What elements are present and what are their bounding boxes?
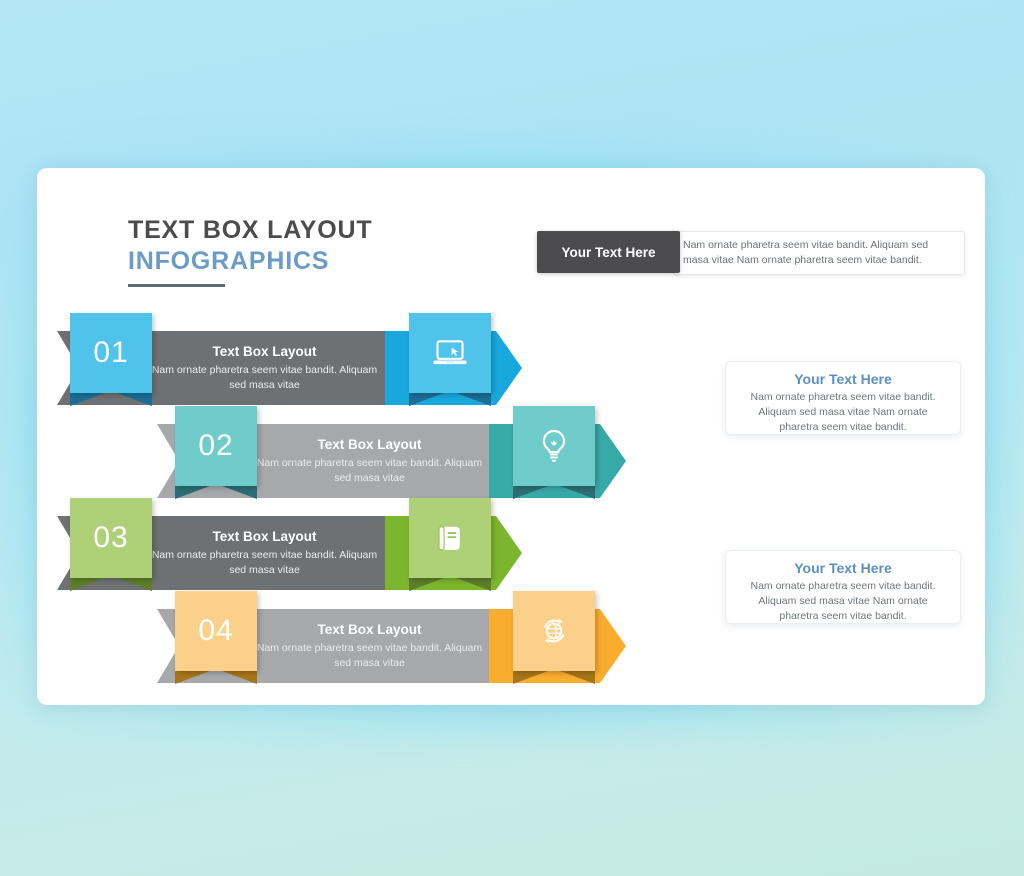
ribbon-heading: Text Box Layout	[212, 529, 316, 544]
ribbon-text: Text Box LayoutNam ornate pharetra seem …	[142, 516, 387, 590]
ribbon-tab-tails	[70, 578, 152, 591]
side-card[interactable]: Your Text Here Nam ornate pharetra seem …	[725, 361, 961, 435]
ribbon-body: Nam ornate pharetra seem vitae bandit. A…	[247, 456, 492, 485]
side-card[interactable]: Your Text Here Nam ornate pharetra seem …	[725, 550, 961, 624]
ribbon-row[interactable]: Text Box LayoutNam ornate pharetra seem …	[37, 313, 657, 405]
ribbon-icon-tails	[409, 578, 491, 591]
side-card-heading: Your Text Here	[740, 560, 946, 576]
side-card-body: Nam ornate pharetra seem vitae bandit. A…	[740, 579, 946, 624]
ribbon-tab-tails	[175, 671, 257, 684]
lightbulb-icon[interactable]	[513, 406, 595, 486]
ribbon-heading: Text Box Layout	[212, 344, 316, 359]
ribbon-heading: Text Box Layout	[317, 622, 421, 637]
laptop-icon[interactable]	[409, 313, 491, 393]
ribbon-number-tab[interactable]: 04	[175, 591, 257, 671]
ribbon-body: Nam ornate pharetra seem vitae bandit. A…	[247, 641, 492, 670]
ribbon-body: Nam ornate pharetra seem vitae bandit. A…	[142, 363, 387, 392]
ribbon-text: Text Box LayoutNam ornate pharetra seem …	[142, 331, 387, 405]
header-callout: Nam ornate pharetra seem vitae bandit. A…	[537, 231, 965, 275]
ribbon-number: 04	[175, 591, 257, 671]
ribbon-number: 01	[70, 313, 152, 393]
title-secondary: INFOGRAPHICS	[128, 246, 372, 277]
side-card-body: Nam ornate pharetra seem vitae bandit. A…	[740, 390, 946, 435]
ribbon-text: Text Box LayoutNam ornate pharetra seem …	[247, 424, 492, 498]
ribbon-text: Text Box LayoutNam ornate pharetra seem …	[247, 609, 492, 683]
ribbon-heading: Text Box Layout	[317, 437, 421, 452]
slide-canvas: TEXT BOX LAYOUT INFOGRAPHICS Nam ornate …	[0, 0, 1024, 876]
ribbon-row[interactable]: Text Box LayoutNam ornate pharetra seem …	[37, 498, 657, 590]
globe-recycle-icon[interactable]	[513, 591, 595, 671]
title-underline	[128, 284, 225, 287]
ribbon-row[interactable]: Text Box LayoutNam ornate pharetra seem …	[37, 406, 657, 498]
header-callout-note: Nam ornate pharetra seem vitae bandit. A…	[673, 231, 965, 275]
ribbon-number-tab[interactable]: 02	[175, 406, 257, 486]
ribbon-number-tab[interactable]: 03	[70, 498, 152, 578]
ribbon-number: 02	[175, 406, 257, 486]
ribbon-row[interactable]: Text Box LayoutNam ornate pharetra seem …	[37, 591, 657, 683]
title-primary: TEXT BOX LAYOUT	[128, 215, 372, 246]
slide-panel: TEXT BOX LAYOUT INFOGRAPHICS Nam ornate …	[37, 168, 985, 705]
ribbon-number: 03	[70, 498, 152, 578]
ribbon-icon-tails	[513, 671, 595, 684]
side-card-heading: Your Text Here	[740, 371, 946, 387]
book-icon[interactable]	[409, 498, 491, 578]
header-callout-label[interactable]: Your Text Here	[537, 231, 680, 273]
page-title: TEXT BOX LAYOUT INFOGRAPHICS	[128, 215, 372, 287]
ribbon-tab-tails	[70, 393, 152, 406]
ribbon-icon-tails	[409, 393, 491, 406]
ribbon-body: Nam ornate pharetra seem vitae bandit. A…	[142, 548, 387, 577]
ribbon-number-tab[interactable]: 01	[70, 313, 152, 393]
